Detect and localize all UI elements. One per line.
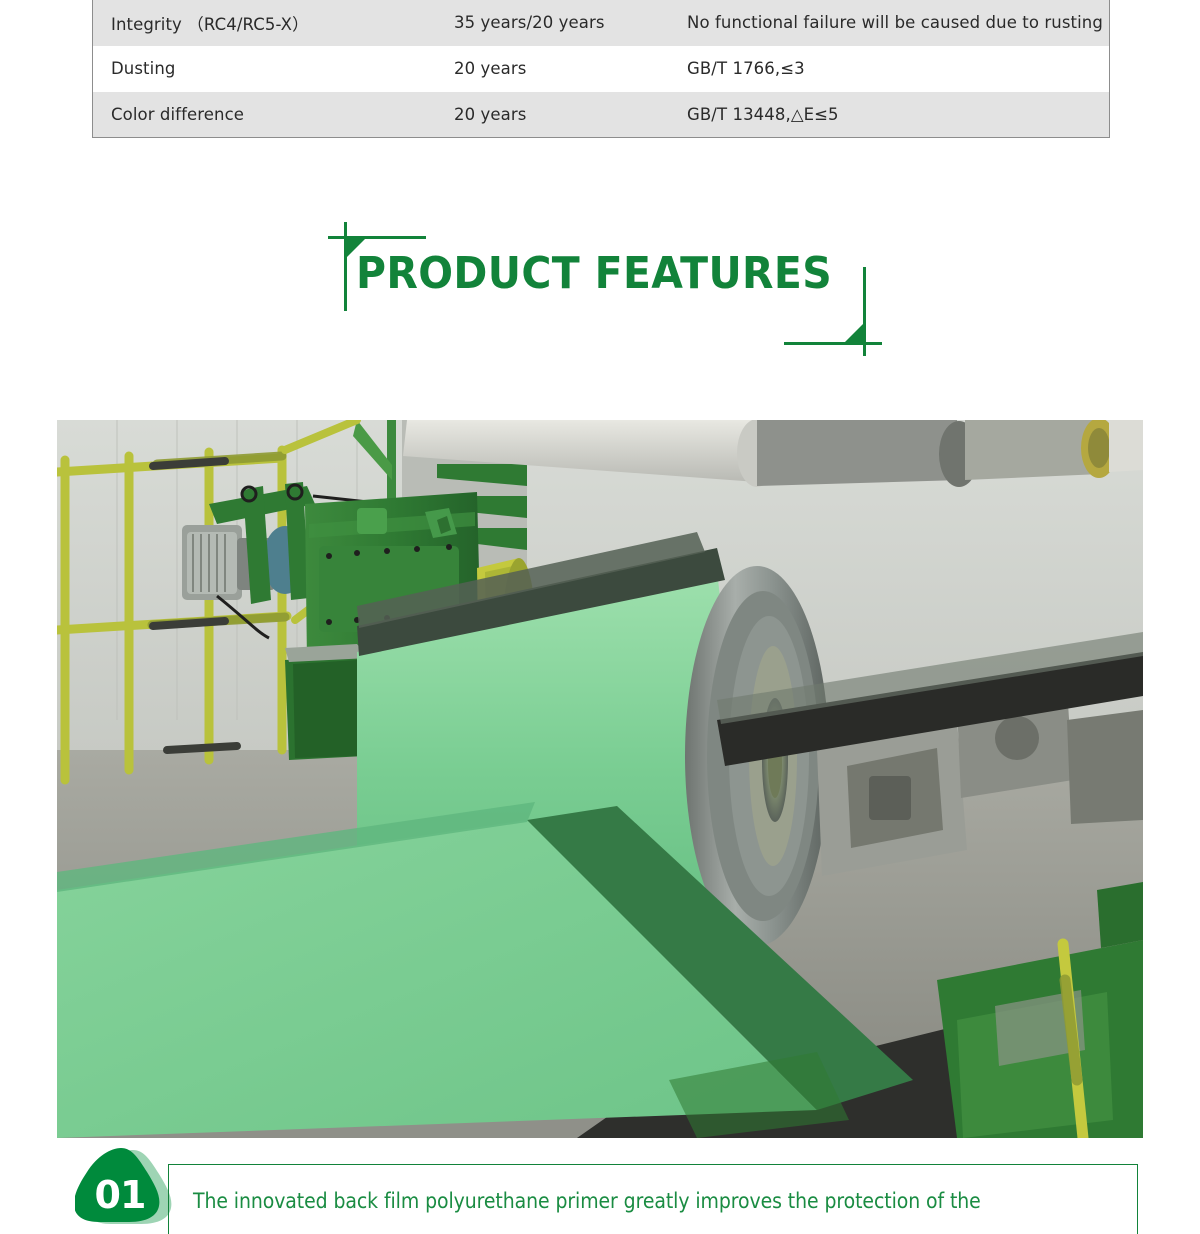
spec-item-years: 20 years bbox=[436, 92, 669, 138]
bracket-top-left-vertical-icon bbox=[344, 222, 347, 311]
bracket-bottom-right-triangle-icon bbox=[845, 324, 863, 342]
bracket-bottom-right-vertical-icon bbox=[863, 267, 866, 356]
bracket-bottom-right-horizontal-icon bbox=[784, 342, 882, 345]
table-row: Dusting 20 years GB/T 1766,≤3 bbox=[93, 46, 1110, 92]
page-title: PRODUCT FEATURES bbox=[356, 252, 832, 296]
spec-item-requirement: GB/T 1766,≤3 bbox=[669, 46, 1110, 92]
section-heading-block: PRODUCT FEATURES bbox=[320, 212, 880, 357]
photo-illustration bbox=[57, 420, 1143, 1138]
spec-item-name: Color difference bbox=[93, 92, 437, 138]
specification-table: Integrity （RC4/RC5-X） 35 years/20 years … bbox=[92, 0, 1110, 138]
spec-table-body: Integrity （RC4/RC5-X） 35 years/20 years … bbox=[93, 0, 1110, 138]
feature-number: 01 bbox=[75, 1176, 165, 1214]
spec-item-name: Dusting bbox=[93, 46, 437, 92]
spec-item-years: 20 years bbox=[436, 46, 669, 92]
spec-item-requirement: GB/T 13448,△E≤5 bbox=[669, 92, 1110, 138]
feature-item-row: 01 The innovated back film polyurethane … bbox=[57, 1148, 1143, 1217]
spec-item-requirement: No functional failure will be caused due… bbox=[669, 0, 1110, 46]
spec-item-name: Integrity （RC4/RC5-X） bbox=[93, 0, 437, 46]
production-line-photo bbox=[57, 420, 1143, 1138]
bracket-top-left-horizontal-icon bbox=[328, 236, 426, 239]
feature-number-badge: 01 bbox=[75, 1148, 179, 1224]
feature-text-box: The innovated back film polyurethane pri… bbox=[168, 1164, 1138, 1234]
spec-item-years: 35 years/20 years bbox=[436, 0, 669, 46]
table-row: Color difference 20 years GB/T 13448,△E≤… bbox=[93, 92, 1110, 138]
feature-description: The innovated back film polyurethane pri… bbox=[193, 1189, 981, 1213]
table-row: Integrity （RC4/RC5-X） 35 years/20 years … bbox=[93, 0, 1110, 46]
